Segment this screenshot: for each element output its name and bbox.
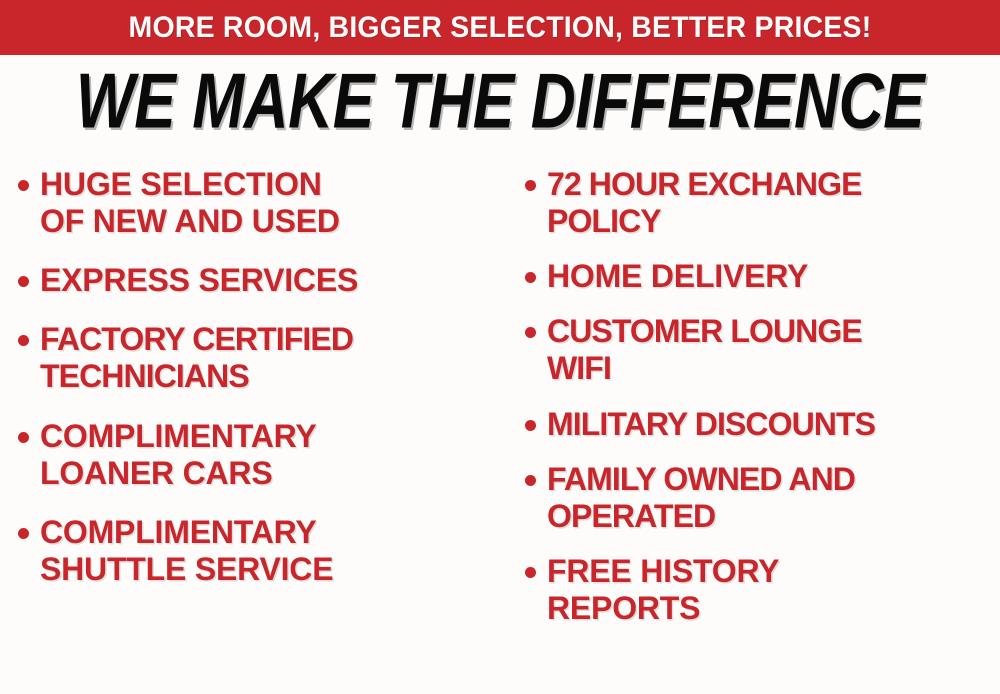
bullet-dot-icon [525, 272, 536, 283]
benefits-column-right: 72 HOUR EXCHANGE POLICY HOME DELIVERY CU… [505, 158, 1000, 694]
bullet-dot-icon [18, 528, 29, 539]
list-item-label: FREE HISTORY REPORTS [547, 553, 779, 627]
list-item-label: EXPRESS SERVICES [40, 262, 358, 299]
list-item: COMPLIMENTARY LOANER CARS [18, 418, 505, 492]
banner-headline-text: MORE ROOM, BIGGER SELECTION, BETTER PRIC… [129, 13, 872, 43]
list-item: COMPLIMENTARY SHUTTLE SERVICE [18, 514, 505, 588]
list-item: MILITARY DISCOUNTS [525, 406, 1000, 443]
headline-container: WE MAKE THE DIFFERENCE [0, 62, 1000, 140]
benefits-columns: HUGE SELECTION OF NEW AND USED EXPRESS S… [0, 158, 1000, 694]
list-item-label: FACTORY CERTIFIED TECHNICIANS [40, 321, 353, 395]
top-banner: MORE ROOM, BIGGER SELECTION, BETTER PRIC… [0, 0, 1000, 55]
list-item: CUSTOMER LOUNGE WIFI [525, 313, 1000, 387]
list-item: EXPRESS SERVICES [18, 262, 505, 299]
list-item-label: FAMILY OWNED AND OPERATED [547, 461, 855, 535]
bullet-dot-icon [525, 327, 536, 338]
benefits-column-left: HUGE SELECTION OF NEW AND USED EXPRESS S… [0, 158, 505, 694]
bullet-dot-icon [18, 335, 29, 346]
list-item-label: HOME DELIVERY [547, 258, 808, 295]
list-item-label: 72 HOUR EXCHANGE POLICY [547, 166, 862, 240]
bullet-dot-icon [525, 567, 536, 578]
list-item-label: CUSTOMER LOUNGE WIFI [547, 313, 862, 387]
list-item-label: COMPLIMENTARY SHUTTLE SERVICE [40, 514, 333, 588]
promo-poster: MORE ROOM, BIGGER SELECTION, BETTER PRIC… [0, 0, 1000, 694]
list-item: HUGE SELECTION OF NEW AND USED [18, 166, 505, 240]
bullet-dot-icon [18, 180, 29, 191]
list-item: FACTORY CERTIFIED TECHNICIANS [18, 321, 505, 395]
bullet-dot-icon [18, 432, 29, 443]
list-item-label: HUGE SELECTION OF NEW AND USED [40, 166, 340, 240]
bullet-dot-icon [18, 276, 29, 287]
bullet-dot-icon [525, 180, 536, 191]
list-item: FREE HISTORY REPORTS [525, 553, 1000, 627]
list-item: FAMILY OWNED AND OPERATED [525, 461, 1000, 535]
bullet-dot-icon [525, 420, 536, 431]
list-item: 72 HOUR EXCHANGE POLICY [525, 166, 1000, 240]
list-item-label: MILITARY DISCOUNTS [547, 406, 875, 443]
list-item: HOME DELIVERY [525, 258, 1000, 295]
bullet-dot-icon [525, 475, 536, 486]
page-title: WE MAKE THE DIFFERENCE [76, 62, 924, 140]
list-item-label: COMPLIMENTARY LOANER CARS [40, 418, 317, 492]
